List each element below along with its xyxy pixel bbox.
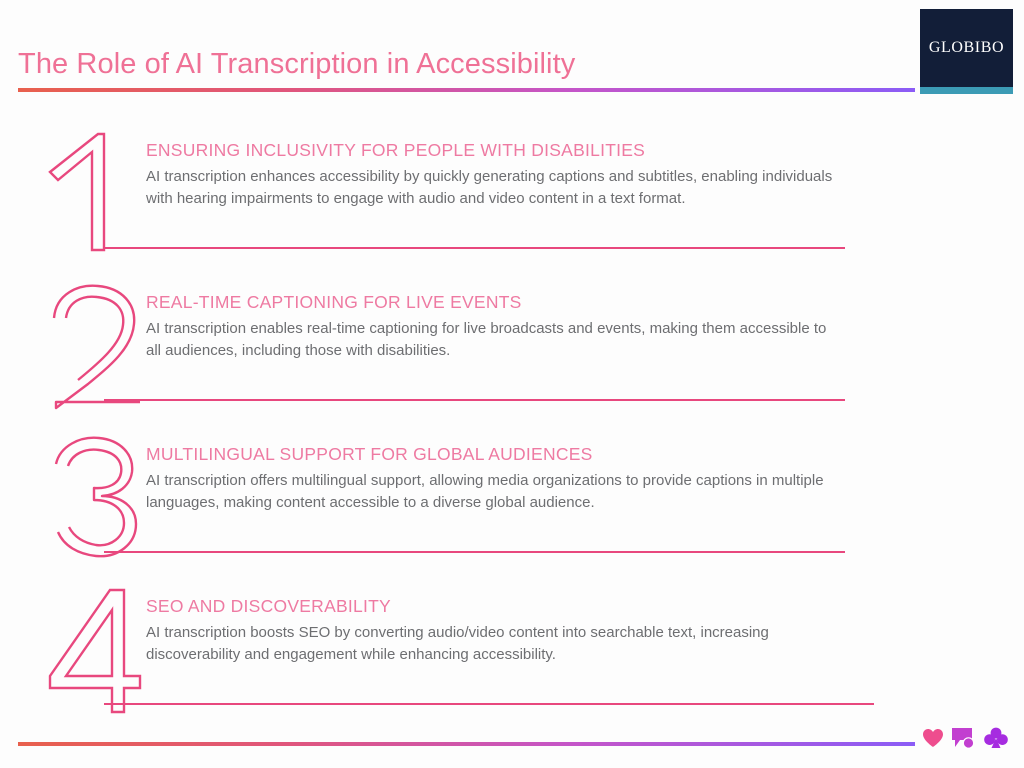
logo-accent-bar [920, 87, 1013, 94]
logo-wordmark: GLOBIBO [929, 40, 1004, 56]
numbered-list: ENSURING INCLUSIVITY FOR PEOPLE WITH DIS… [0, 126, 1024, 734]
list-item: SEO AND DISCOVERABILITY AI transcription… [0, 582, 1024, 734]
list-item: ENSURING INCLUSIVITY FOR PEOPLE WITH DIS… [0, 126, 1024, 278]
item-description: AI transcription boosts SEO by convertin… [146, 622, 836, 666]
slide-canvas: The Role of AI Transcription in Accessib… [0, 0, 1024, 768]
page-title: The Role of AI Transcription in Accessib… [18, 48, 575, 81]
item-divider [104, 551, 845, 553]
item-text-block: REAL-TIME CAPTIONING FOR LIVE EVENTS AI … [146, 292, 846, 362]
item-text-block: MULTILINGUAL SUPPORT FOR GLOBAL AUDIENCE… [146, 444, 846, 514]
title-gradient-rule [18, 88, 915, 92]
list-item: REAL-TIME CAPTIONING FOR LIVE EVENTS AI … [0, 278, 1024, 430]
item-heading: SEO AND DISCOVERABILITY [146, 596, 846, 617]
footer-icon-group [922, 727, 1008, 749]
item-description: AI transcription enables real-time capti… [146, 318, 836, 362]
club-icon [984, 727, 1008, 749]
item-heading: ENSURING INCLUSIVITY FOR PEOPLE WITH DIS… [146, 140, 846, 161]
item-heading: MULTILINGUAL SUPPORT FOR GLOBAL AUDIENCE… [146, 444, 846, 465]
item-divider [104, 703, 874, 705]
item-text-block: SEO AND DISCOVERABILITY AI transcription… [146, 596, 846, 666]
item-description: AI transcription enhances accessibility … [146, 166, 836, 210]
list-item: MULTILINGUAL SUPPORT FOR GLOBAL AUDIENCE… [0, 430, 1024, 582]
heart-icon [922, 728, 944, 748]
footer-gradient-rule [18, 742, 915, 746]
item-description: AI transcription offers multilingual sup… [146, 470, 836, 514]
item-divider [104, 247, 845, 249]
chat-bubble-icon [952, 728, 976, 749]
globibo-logo: GLOBIBO [920, 9, 1013, 87]
item-text-block: ENSURING INCLUSIVITY FOR PEOPLE WITH DIS… [146, 140, 846, 210]
item-divider [104, 399, 845, 401]
item-heading: REAL-TIME CAPTIONING FOR LIVE EVENTS [146, 292, 846, 313]
